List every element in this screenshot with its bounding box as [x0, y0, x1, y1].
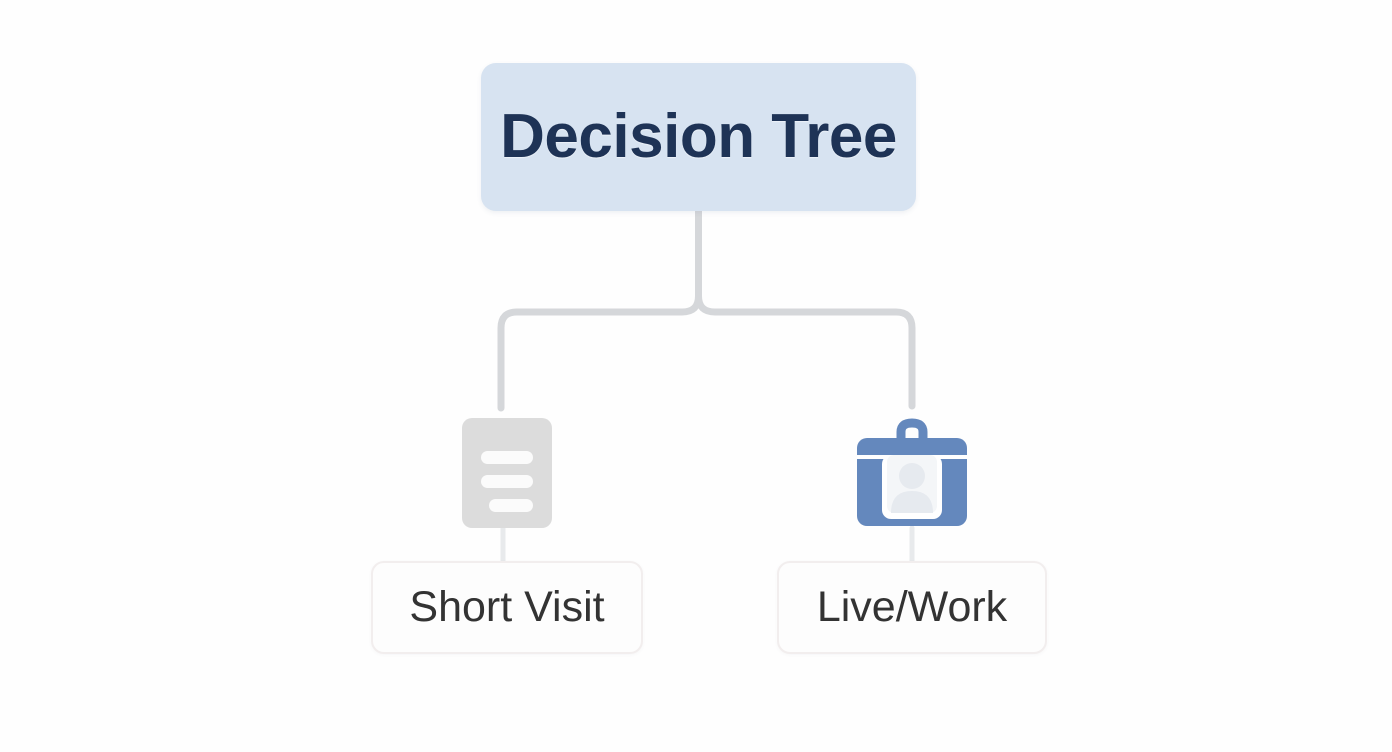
child-label-short-visit: Short Visit	[409, 586, 604, 629]
document-icon	[455, 418, 559, 536]
icon-container	[777, 418, 1047, 536]
child-label-box-live-work[interactable]: Live/Work	[777, 561, 1047, 654]
child-node-short-visit[interactable]: Short Visit	[371, 418, 643, 536]
id-badge-icon	[853, 418, 971, 536]
child-label-box-short-visit[interactable]: Short Visit	[371, 561, 643, 654]
icon-container	[371, 418, 643, 536]
decision-tree-diagram: Decision Tree Short Visit	[0, 0, 1392, 752]
root-node[interactable]: Decision Tree	[481, 63, 916, 211]
child-node-live-work[interactable]: Live/Work	[777, 418, 1047, 536]
child-label-live-work: Live/Work	[817, 586, 1007, 629]
connector-branch-left	[501, 296, 699, 408]
root-node-label: Decision Tree	[500, 106, 897, 168]
connector-branch-right	[699, 296, 913, 406]
